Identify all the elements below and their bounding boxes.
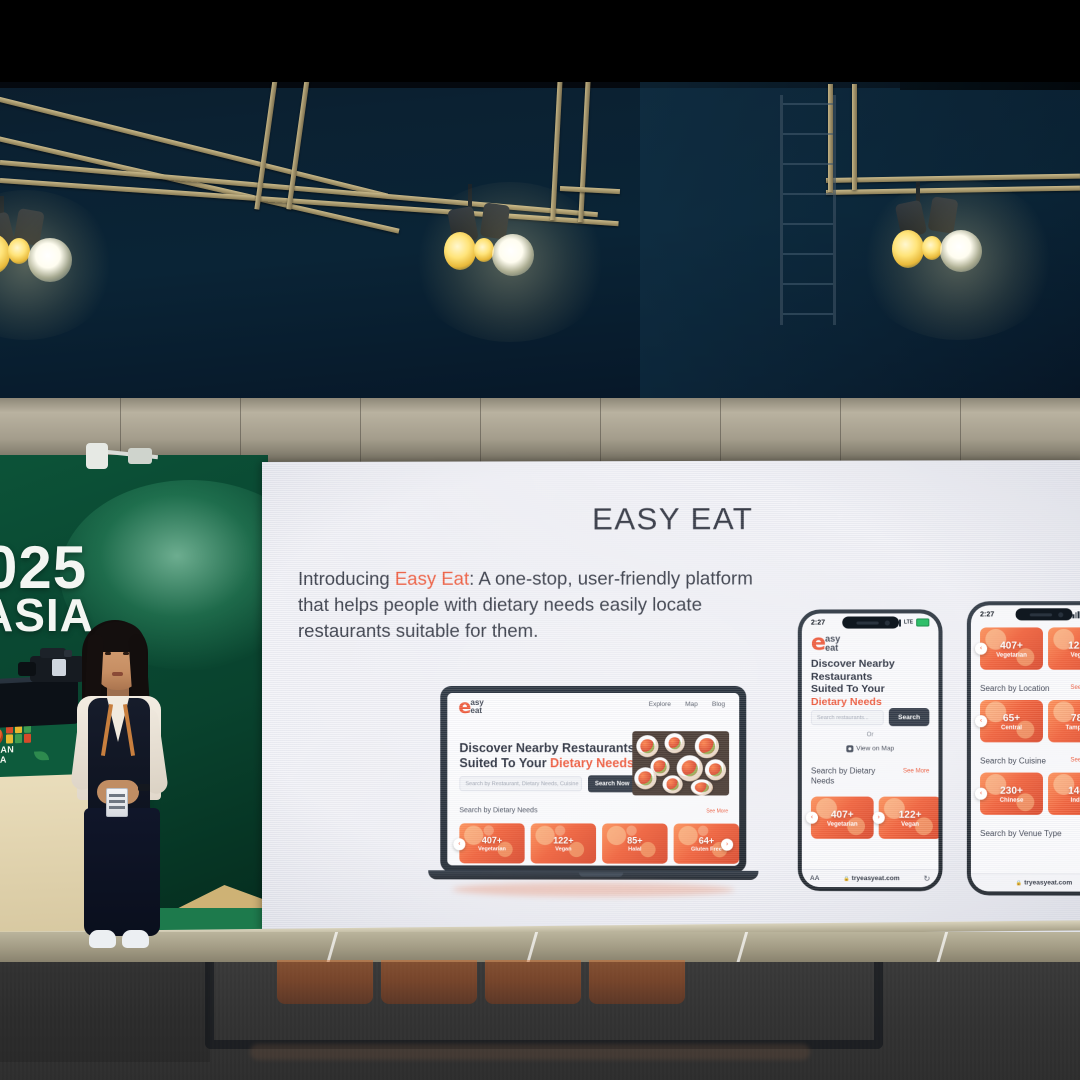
card-label: Vegetarian (980, 653, 1043, 659)
dietary-card[interactable]: 407+ Vegetarian (459, 823, 524, 863)
dietary-card[interactable]: 122+ Vegan (531, 823, 596, 863)
letterbox-top (0, 0, 1080, 82)
logo-circle-icon (0, 727, 3, 747)
card-label: Vegetarian (459, 846, 524, 852)
phone-hero-heading: Discover Nearby Restaurants Suited To Yo… (811, 658, 932, 708)
presenter-badge (106, 788, 128, 817)
location-card-carousel: 65+ Central 78+ Tampines (980, 700, 1080, 742)
location-card[interactable]: 78+ Tampines (1048, 700, 1080, 742)
card-label: Halal (602, 847, 667, 853)
hero-search-row: Search by Restaurant, Dietary Needs, Cui… (459, 775, 636, 792)
phone-screen-home: 2:27 LTE e asy eat (802, 613, 939, 887)
laptop-shadow (452, 882, 734, 897)
slide-body-text: Introducing Easy Eat: A one-stop, user-f… (298, 565, 771, 644)
card-count: 407+ (811, 810, 874, 821)
presenter (55, 612, 200, 957)
battery-icon (916, 618, 929, 626)
front-camera-icon (884, 621, 889, 626)
truss-beam (560, 186, 620, 194)
search-button[interactable]: Search (889, 708, 930, 726)
card-label: Chinese (980, 798, 1043, 804)
logo-letter-e: e (811, 634, 826, 653)
cuisine-card[interactable]: 230+ Chinese (980, 773, 1043, 815)
easyeat-logo[interactable]: e asy eat (458, 698, 506, 718)
screen-reflection-on-floor (205, 962, 865, 1058)
truss-beam (0, 178, 619, 226)
phone-notch (1016, 608, 1073, 620)
logo-text-eat: eat (825, 644, 838, 652)
logo-text-eat: eat (470, 707, 482, 715)
dietary-card[interactable]: 85+ Halal (602, 823, 667, 863)
view-on-map-label: View on Map (856, 745, 894, 752)
carousel-prev-icon[interactable]: ‹ (975, 788, 987, 800)
led-presentation-screen: EASY EAT Introducing Easy Eat: A one-sto… (262, 460, 1080, 934)
laptop-mockup: e asy eat Explore Map Blog Discove (440, 686, 746, 887)
card-label: Vegetarian (811, 822, 874, 828)
lock-icon: 🔒 (843, 876, 849, 882)
hero-line-4-accent: Dietary Needs (811, 695, 882, 707)
address-bar[interactable]: 🔒 tryeasyeat.com (843, 875, 899, 882)
card-label: Indian (1048, 798, 1080, 804)
card-count: 122+ (1048, 641, 1080, 652)
site-nav-links: Explore Map Blog (649, 701, 725, 708)
card-label: Tampines (1048, 725, 1080, 731)
easyeat-logo[interactable]: e asy eat (811, 634, 853, 654)
carousel-prev-icon[interactable]: ‹ (975, 643, 987, 655)
dietary-card[interactable]: 122+ Vegan (1048, 627, 1080, 669)
floor-shadow-left (0, 962, 210, 1062)
logo-text-asy: asy (825, 635, 840, 643)
hero-line-2-accent: Dietary Needs (550, 756, 634, 770)
podium-logo-line1: ARIAN (0, 744, 14, 755)
hero-food-image (632, 731, 729, 795)
dietary-section-see-more[interactable]: See More (903, 768, 929, 774)
network-label: LTE (904, 619, 913, 625)
wall-lamp-head (86, 443, 108, 469)
venue-section-label: Search by Venue Type (980, 829, 1062, 838)
slide-body-lead: Introducing (298, 568, 395, 589)
url-text: tryeasyeat.com (852, 875, 900, 882)
hero-line-3: Suited To Your (811, 683, 885, 695)
search-input[interactable]: Search restaurants... (811, 710, 884, 725)
dietary-section-see-more[interactable]: See More (706, 808, 728, 814)
card-count: 140+ (1048, 786, 1080, 797)
slide-body-brand: Easy Eat (395, 568, 469, 589)
card-label: Vegan (1048, 653, 1080, 659)
nav-link-map[interactable]: Map (685, 701, 698, 708)
cuisine-section-see-more[interactable]: See More (1070, 757, 1080, 763)
status-time: 2:27 (811, 619, 825, 626)
dietary-card-carousel: 407+ Vegetarian 122+ Vegan 85+ Halal (459, 823, 739, 864)
location-section-see-more[interactable]: See More (1070, 685, 1080, 691)
truss-beam-vertical (852, 84, 857, 190)
leaf-icon (34, 751, 49, 761)
wall-lamp-box (128, 448, 152, 464)
dietary-card[interactable]: 407+ Vegetarian (980, 627, 1043, 669)
lock-icon: 🔒 (1016, 880, 1022, 886)
ceiling-glass-panel (640, 80, 1080, 420)
camera-lens (18, 662, 36, 676)
cuisine-card[interactable]: 140+ Indian (1048, 773, 1080, 815)
website-desktop-view: e asy eat Explore Map Blog Discove (447, 693, 739, 866)
location-section-label: Search by Location (980, 684, 1050, 693)
phone-screen-categories: 2:27 LTE 407+ Vegetaria (971, 605, 1080, 891)
card-count: 122+ (531, 835, 596, 845)
cuisine-card-carousel: 230+ Chinese 140+ Indian (980, 773, 1080, 815)
speaker-icon (856, 622, 878, 625)
hero-line-2-prefix: Suited To Your (459, 756, 550, 770)
safari-browser-bar: AA 🔒 tryeasyeat.com ↻ (802, 869, 939, 887)
view-on-map-link[interactable]: View on Map (802, 745, 939, 752)
card-count: 407+ (459, 835, 524, 845)
hero-line-2: Restaurants (811, 670, 872, 682)
nav-link-blog[interactable]: Blog (712, 701, 725, 708)
search-input[interactable]: Search by Restaurant, Dietary Needs, Cui… (459, 776, 582, 791)
cuisine-section-label: Search by Cuisine (980, 756, 1046, 765)
dietary-section-label: Search by Dietary Needs (459, 807, 537, 814)
carousel-next-icon[interactable]: › (721, 839, 733, 851)
search-now-button[interactable]: Search Now (588, 775, 636, 792)
card-count: 122+ (879, 810, 939, 821)
nav-link-explore[interactable]: Explore (649, 701, 671, 708)
phone-mockup-home: 2:27 LTE e asy eat (798, 609, 943, 891)
reload-icon[interactable]: ↻ (924, 874, 931, 883)
front-camera-icon (1058, 612, 1063, 617)
podium-logo-line2: ASIA (0, 754, 14, 765)
hero-line-1: Discover Nearby (811, 658, 895, 670)
laptop-base-notch (579, 873, 623, 877)
carousel-prev-icon[interactable]: ‹ (806, 812, 818, 824)
carousel-prev-icon[interactable]: ‹ (975, 715, 987, 727)
ceiling-ladder (780, 95, 836, 325)
speaker-icon (1030, 613, 1052, 616)
dietary-section-label: Search by Dietary Needs (811, 766, 890, 786)
hero-heading: Discover Nearby Restaurants Suited To Yo… (459, 741, 640, 771)
map-icon (846, 745, 853, 752)
card-label: Central (980, 725, 1043, 731)
location-card[interactable]: 65+ Central (980, 700, 1043, 742)
card-count: 65+ (980, 713, 1043, 724)
dietary-card[interactable]: 122+ Vegan (879, 797, 939, 839)
card-count: 78+ (1048, 713, 1080, 724)
site-navbar: e asy eat Explore Map Blog (447, 693, 739, 719)
logo-letter-e: e (458, 698, 471, 717)
card-count: 407+ (980, 641, 1043, 652)
hero-line-1: Discover Nearby Restaurants (459, 741, 634, 755)
url-text: tryeasyeat.com (1024, 879, 1072, 886)
phone-notch (842, 616, 899, 628)
or-divider-label: Or (802, 732, 939, 738)
card-label: Vegan (879, 822, 939, 828)
safari-browser-bar: . 🔒 tryeasyeat.com . (971, 873, 1080, 891)
text-size-icon[interactable]: AA (810, 875, 819, 882)
status-time: 2:27 (980, 611, 994, 618)
card-label: Vegan (531, 846, 596, 852)
presentation-photo: 025 ASIA ARIAN ASIA (0, 0, 1080, 1080)
card-count: 85+ (602, 835, 667, 845)
card-count: 230+ (980, 786, 1043, 797)
address-bar[interactable]: 🔒 tryeasyeat.com (1016, 879, 1072, 886)
carousel-next-icon[interactable]: › (873, 812, 885, 824)
dietary-card-carousel: 407+ Vegetarian 122+ Vegan (980, 627, 1080, 669)
dietary-card[interactable]: 407+ Vegetarian (811, 797, 874, 839)
carousel-prev-icon[interactable]: ‹ (453, 838, 465, 850)
slide-title: EASY EAT (262, 500, 1080, 538)
phone-mockup-categories: 2:27 LTE 407+ Vegetaria (967, 601, 1080, 896)
podium-event-logo: ARIAN ASIA (0, 721, 62, 770)
